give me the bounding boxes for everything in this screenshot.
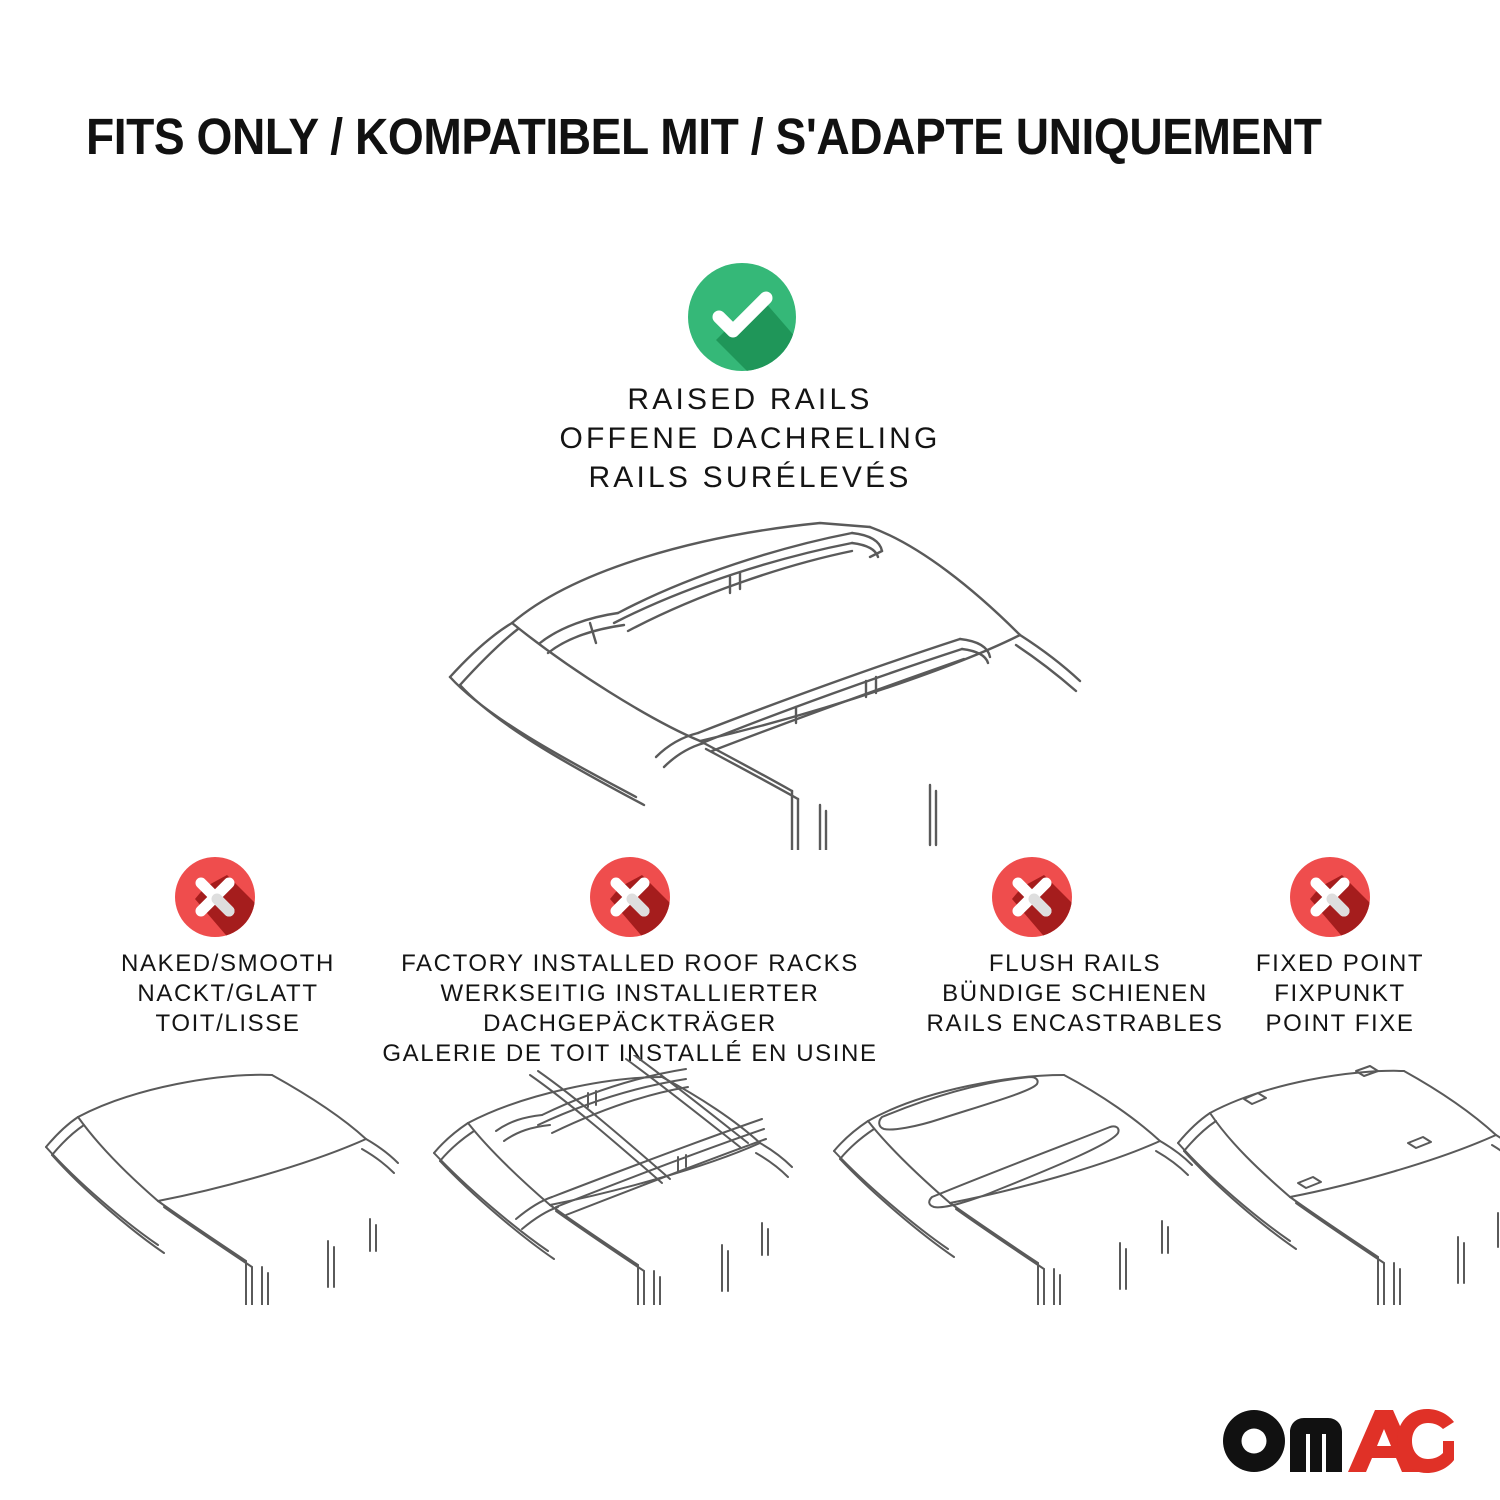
car-roof-flush-rails-illustration bbox=[820, 1055, 1210, 1305]
cross-circle-icon bbox=[990, 855, 1074, 939]
caption-line-de-1: WERKSEITIG INSTALLIERTER bbox=[380, 979, 880, 1009]
cross-circle-icon bbox=[1288, 855, 1372, 939]
caption-line-de-2: DACHGEPÄCKTRÄGER bbox=[380, 1009, 880, 1039]
compatible-section: RAISED RAILS OFFENE DACHRELING RAILS SUR… bbox=[0, 0, 1500, 860]
caption-line-en: FACTORY INSTALLED ROOF RACKS bbox=[380, 949, 880, 979]
caption-line-de: OFFENE DACHRELING bbox=[450, 419, 1050, 458]
caption-line-en: RAISED RAILS bbox=[450, 380, 1050, 419]
check-circle-icon bbox=[686, 261, 798, 373]
incompatible-caption: FIXED POINT FIXPUNKT POINT FIXE bbox=[1124, 949, 1500, 1039]
cross-circle-icon bbox=[588, 855, 672, 939]
caption-line-fr: RAILS SURÉLEVÉS bbox=[450, 458, 1050, 497]
car-roof-naked-smooth-illustration bbox=[40, 1055, 415, 1305]
car-roof-factory-roof-racks-illustration bbox=[410, 1055, 820, 1305]
caption-line-fr: POINT FIXE bbox=[1124, 1009, 1500, 1039]
compatible-caption: RAISED RAILS OFFENE DACHRELING RAILS SUR… bbox=[450, 380, 1050, 497]
caption-line-fr: TOIT/LISSE bbox=[18, 1009, 438, 1039]
caption-line-de: FIXPUNKT bbox=[1124, 979, 1500, 1009]
car-roof-fixed-point-illustration bbox=[1170, 1055, 1500, 1305]
logo-letter-m bbox=[1290, 1418, 1342, 1472]
incompatible-caption: NAKED/SMOOTH NACKT/GLATT TOIT/LISSE bbox=[18, 949, 438, 1039]
caption-line-en: NAKED/SMOOTH bbox=[18, 949, 438, 979]
incompatible-caption: FACTORY INSTALLED ROOF RACKS WERKSEITIG … bbox=[380, 949, 880, 1069]
caption-line-en: FIXED POINT bbox=[1124, 949, 1500, 979]
omac-logo bbox=[1222, 1408, 1454, 1474]
caption-line-de: NACKT/GLATT bbox=[18, 979, 438, 1009]
car-roof-raised-rails-illustration bbox=[400, 505, 1100, 850]
cross-circle-icon bbox=[173, 855, 257, 939]
logo-letter-c bbox=[1397, 1409, 1454, 1473]
logo-letter-o bbox=[1223, 1410, 1285, 1472]
